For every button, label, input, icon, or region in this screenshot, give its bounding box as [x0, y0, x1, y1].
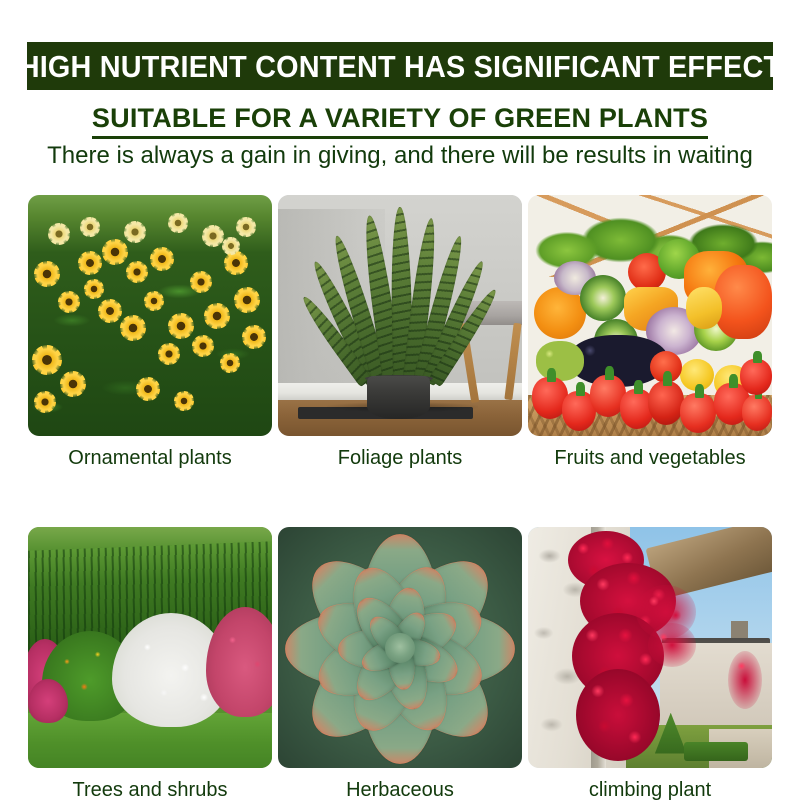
caption-ornamental-plants: Ornamental plants	[28, 446, 272, 470]
magenta-shrub	[28, 679, 68, 723]
infographic-page: HIGH NUTRIENT CONTENT HAS SIGNIFICANT EF…	[0, 0, 800, 800]
yellow-pepper	[686, 287, 722, 329]
red-bell-pepper	[714, 265, 772, 339]
strawberry	[680, 393, 716, 433]
echeveria-succulent-image	[278, 527, 522, 768]
kiwi-slice	[580, 275, 626, 321]
hedge-and-shrubs-image	[28, 527, 272, 768]
thumbnail-fruits-and-vegetables	[528, 195, 772, 436]
succulent-core	[385, 633, 415, 663]
grid-cell-herbaceous: Herbaceous	[278, 527, 522, 802]
grid-cell-climbing-plant: climbing plant	[528, 527, 772, 802]
plant-pot	[367, 376, 430, 419]
grid-cell-trees-and-shrubs: Trees and shrubs	[28, 527, 272, 802]
snake-plant-image	[278, 195, 522, 436]
caption-climbing-plant: climbing plant	[528, 778, 772, 802]
caption-foliage-plants: Foliage plants	[278, 446, 522, 470]
strawberry	[740, 359, 772, 395]
grid-cell-foliage-plants: Foliage plants	[278, 195, 522, 470]
banner-title: HIGH NUTRIENT CONTENT HAS SIGNIFICANT EF…	[19, 51, 782, 82]
thumbnail-herbaceous	[278, 527, 522, 768]
subtitle-container: SUITABLE FOR A VARIETY OF GREEN PLANTS	[0, 104, 800, 139]
strawberry	[648, 381, 684, 425]
caption-trees-and-shrubs: Trees and shrubs	[28, 778, 272, 802]
thumbnail-ornamental-plants	[28, 195, 272, 436]
header-banner: HIGH NUTRIENT CONTENT HAS SIGNIFICANT EF…	[27, 42, 773, 90]
thumbnail-climbing-plant	[528, 527, 772, 768]
tagline-text: There is always a gain in giving, and th…	[0, 142, 800, 170]
caption-fruits-and-vegetables: Fruits and vegetables	[528, 446, 772, 470]
garden-hedge	[684, 742, 747, 761]
caption-herbaceous: Herbaceous	[278, 778, 522, 802]
subtitle-text: SUITABLE FOR A VARIETY OF GREEN PLANTS	[92, 104, 708, 139]
bougainvillea-cluster	[648, 623, 696, 667]
strawberry	[742, 395, 772, 431]
green-grapes	[536, 341, 584, 381]
grid-cell-ornamental-plants: Ornamental plants	[28, 195, 272, 470]
thumbnail-trees-and-shrubs	[28, 527, 272, 768]
bougainvillea-cluster-far	[728, 651, 762, 709]
plant-category-grid: Ornamental plants	[28, 195, 772, 802]
bougainvillea-cluster	[576, 669, 660, 761]
thumbnail-foliage-plants	[278, 195, 522, 436]
yellow-flower-bed-image	[28, 195, 272, 436]
bougainvillea-wall-image	[528, 527, 772, 768]
grid-cell-fruits-and-vegetables: Fruits and vegetables	[528, 195, 772, 470]
produce-basket-image	[528, 195, 772, 436]
